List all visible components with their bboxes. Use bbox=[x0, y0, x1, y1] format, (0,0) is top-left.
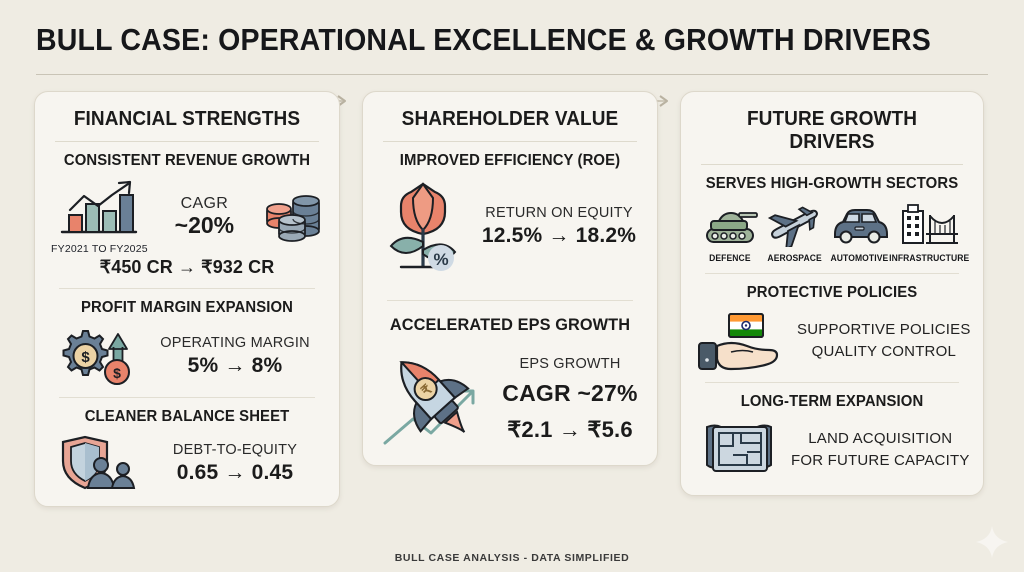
sector-label: INFRASTRUCTURE bbox=[889, 253, 969, 263]
sector-infrastructure: INFRASTRUCTURE bbox=[893, 203, 965, 263]
card-future-growth-drivers: FUTURE GROWTH DRIVERS SERVES HIGH-GROWTH… bbox=[680, 91, 984, 496]
section-divider bbox=[705, 382, 959, 383]
policy-line-1: SUPPORTIVE POLICIES bbox=[797, 319, 971, 341]
tank-icon bbox=[699, 203, 761, 247]
tulip-percent-icon: % bbox=[379, 180, 467, 272]
section-title: CLEANER BALANCE SHEET bbox=[56, 408, 317, 426]
section-improved-efficiency-roe: IMPROVED EFFICIENCY (ROE) % bbox=[377, 152, 643, 286]
header: BULL CASE: OPERATIONAL EXCELLENCE & GROW… bbox=[0, 0, 1024, 75]
sector-label: DEFENCE bbox=[710, 253, 752, 263]
card-shareholder-value: SHAREHOLDER VALUE IMPROVED EFFICIENCY (R… bbox=[362, 91, 658, 466]
section-title: PROFIT MARGIN EXPANSION bbox=[56, 299, 317, 317]
roe-label: RETURN ON EQUITY bbox=[477, 204, 641, 223]
hand-india-flag-icon bbox=[697, 310, 787, 372]
section-consistent-revenue-growth: CONSISTENT REVENUE GROWTH FY2021 TO F bbox=[49, 152, 325, 278]
section-title: LONG-TERM EXPANSION bbox=[702, 393, 961, 411]
debt-to-equity-value: 0.65 → 0.45 bbox=[147, 461, 323, 485]
eps-stat: EPS GROWTH CAGR ~27% ₹2.1 → ₹5.6 bbox=[499, 355, 641, 443]
card-divider bbox=[383, 141, 637, 142]
operating-margin-stat: OPERATING MARGIN 5% → 8% bbox=[147, 334, 323, 379]
bar-chart-growth-icon bbox=[56, 178, 142, 240]
section-divider bbox=[705, 273, 959, 274]
sector-defence: DEFENCE bbox=[699, 203, 762, 263]
expansion-line-1: LAND ACQUISITION bbox=[791, 428, 970, 450]
section-title: CONSISTENT REVENUE GROWTH bbox=[56, 152, 317, 170]
section-profit-margin-expansion: PROFIT MARGIN EXPANSION $ bbox=[49, 299, 325, 387]
page-title: BULL CASE: OPERATIONAL EXCELLENCE & GROW… bbox=[36, 22, 912, 58]
tulip-percent-icon-wrap: % bbox=[379, 180, 467, 272]
section-divider bbox=[387, 300, 633, 301]
section-serves-high-growth-sectors: SERVES HIGH-GROWTH SECTORS bbox=[695, 175, 969, 263]
cagr-value: ~20% bbox=[158, 212, 251, 239]
sparkle-watermark bbox=[974, 524, 1010, 560]
debt-to-equity-label: DEBT-TO-EQUITY bbox=[147, 441, 323, 460]
infographic-page: BULL CASE: OPERATIONAL EXCELLENCE & GROW… bbox=[0, 0, 1024, 572]
expansion-line-2: FOR FUTURE CAPACITY bbox=[791, 450, 970, 472]
card-divider bbox=[701, 164, 963, 165]
hand-india-flag-icon-wrap bbox=[697, 310, 787, 372]
card-title: SHAREHOLDER VALUE bbox=[384, 104, 637, 141]
section-accelerated-eps-growth: ACCELERATED EPS GROWTH bbox=[377, 315, 643, 451]
shield-people-icon-wrap bbox=[51, 434, 137, 492]
coin-stack-icon-wrap bbox=[261, 187, 323, 247]
section-title: PROTECTIVE POLICIES bbox=[702, 284, 961, 302]
sector-label: AEROSPACE bbox=[768, 253, 822, 263]
operating-margin-value: 5% → 8% bbox=[147, 354, 323, 378]
footer-caption: BULL CASE ANALYSIS - DATA SIMPLIFIED bbox=[0, 552, 1024, 564]
columns-container: FINANCIAL STRENGTHS CONSISTENT REVENUE G… bbox=[0, 75, 1024, 507]
gear-dollar-arrow-icon: $ $ bbox=[51, 325, 137, 387]
car-icon bbox=[829, 203, 891, 247]
shield-people-icon bbox=[51, 434, 137, 492]
svg-text:$: $ bbox=[113, 365, 121, 381]
sector-aerospace: AEROSPACE bbox=[764, 203, 827, 263]
section-long-term-expansion: LONG-TERM EXPANSION bbox=[695, 393, 969, 481]
section-cleaner-balance-sheet: CLEANER BALANCE SHEET bbox=[49, 408, 325, 492]
revenue-range: ₹450 CR → ₹932 CR bbox=[51, 257, 323, 278]
svg-text:%: % bbox=[433, 250, 448, 269]
eps-label: EPS GROWTH bbox=[499, 355, 641, 374]
sector-automotive: AUTOMOTIVE bbox=[828, 203, 891, 263]
chart-caption: FY2021 TO FY2025 bbox=[51, 243, 148, 255]
card-title: FUTURE GROWTH DRIVERS bbox=[702, 104, 962, 164]
section-title: SERVES HIGH-GROWTH SECTORS bbox=[702, 175, 961, 193]
svg-text:$: $ bbox=[81, 349, 90, 366]
buildings-bridge-icon bbox=[898, 203, 960, 247]
card-financial-strengths: FINANCIAL STRENGTHS CONSISTENT REVENUE G… bbox=[34, 91, 340, 507]
operating-margin-label: OPERATING MARGIN bbox=[147, 334, 323, 353]
card-divider bbox=[55, 141, 319, 142]
blueprint-icon bbox=[697, 419, 781, 481]
debt-to-equity-stat: DEBT-TO-EQUITY 0.65 → 0.45 bbox=[147, 441, 323, 486]
gear-dollar-arrow-icon-wrap: $ $ bbox=[51, 325, 137, 387]
long-term-expansion-text: LAND ACQUISITION FOR FUTURE CAPACITY bbox=[791, 428, 970, 472]
section-title: ACCELERATED EPS GROWTH bbox=[384, 315, 636, 335]
sector-label: AUTOMOTIVE bbox=[831, 253, 889, 263]
section-divider bbox=[59, 397, 315, 398]
roe-value: 12.5% → 18.2% bbox=[477, 224, 641, 248]
rocket-rupee-icon: ₹ bbox=[379, 347, 489, 451]
airplane-icon bbox=[764, 203, 826, 247]
bar-chart-growth-icon-wrap: FY2021 TO FY2025 bbox=[51, 178, 148, 255]
rocket-rupee-icon-wrap: ₹ bbox=[379, 347, 489, 451]
eps-range-value: ₹2.1 → ₹5.6 bbox=[499, 417, 641, 443]
section-protective-policies: PROTECTIVE POLICIES bbox=[695, 284, 969, 372]
sectors-row: DEFENCE AEROSPACE bbox=[697, 201, 967, 263]
cagr-label: CAGR bbox=[158, 195, 251, 213]
revenue-stat: CAGR ~20% bbox=[158, 195, 251, 239]
eps-cagr-value: CAGR ~27% bbox=[499, 380, 641, 407]
section-divider bbox=[59, 288, 315, 289]
protective-policies-text: SUPPORTIVE POLICIES QUALITY CONTROL bbox=[797, 319, 971, 363]
roe-stat: RETURN ON EQUITY 12.5% → 18.2% bbox=[477, 204, 641, 249]
card-title: FINANCIAL STRENGTHS bbox=[56, 104, 318, 141]
blueprint-icon-wrap bbox=[697, 419, 781, 481]
policy-line-2: QUALITY CONTROL bbox=[797, 341, 971, 363]
coin-stack-icon bbox=[261, 187, 323, 247]
section-title: IMPROVED EFFICIENCY (ROE) bbox=[384, 152, 636, 170]
